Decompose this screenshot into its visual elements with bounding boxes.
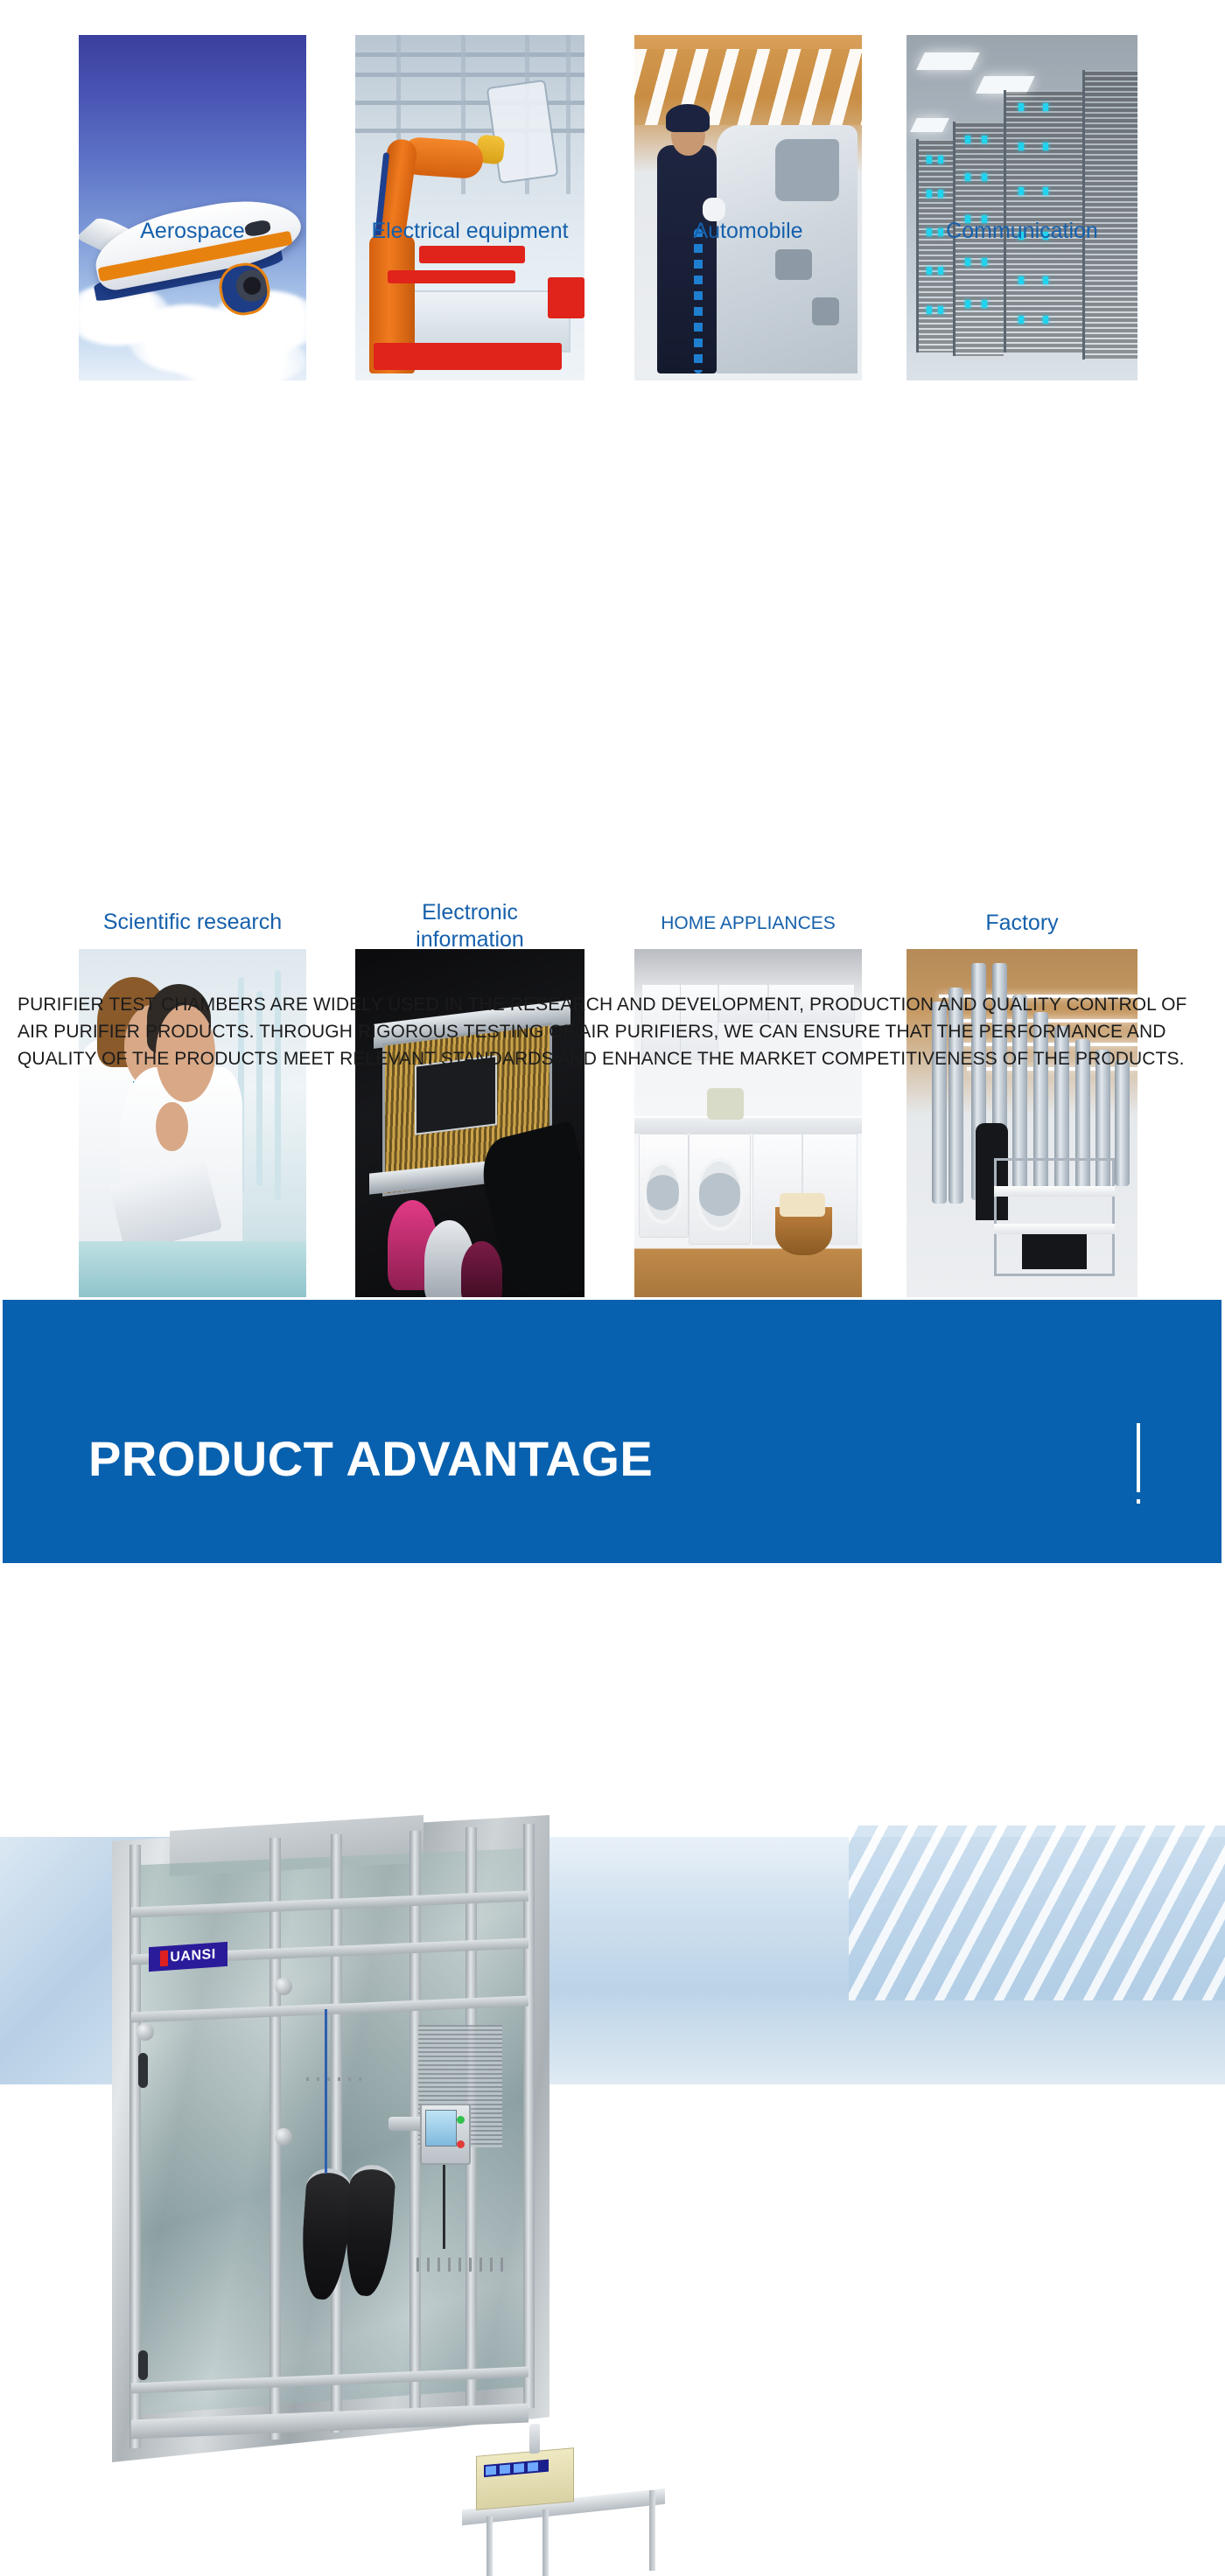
application-label-scientific-research: Scientific research <box>47 910 338 935</box>
product-advantage-banner: PRODUCT ADVANTAGE <box>3 1300 1221 1563</box>
purifier-test-chamber-photo: UANSI <box>112 1815 549 2462</box>
industrial-robot-arm-photo <box>355 35 584 380</box>
product-description-paragraph: PURIFIER TEST CHAMBERS ARE WIDELY USED I… <box>17 991 1209 1072</box>
application-tile-communication[interactable] <box>906 35 1137 380</box>
server-racks-datacenter-photo <box>906 35 1137 380</box>
table-leg <box>649 2490 655 2571</box>
application-tile-automobile[interactable] <box>634 35 862 380</box>
car-body-assembly-worker-photo <box>634 35 862 380</box>
control-panel-screen <box>425 2110 457 2147</box>
application-label-communication: Communication <box>889 219 1155 244</box>
banner-title: PRODUCT ADVANTAGE <box>88 1433 653 1485</box>
application-label-aerospace: Aerospace <box>79 219 306 244</box>
control-panel-arm <box>388 2117 423 2131</box>
hero-light-rays <box>849 1826 1225 2000</box>
measurement-instrument <box>476 2447 574 2510</box>
application-tile-electrical-equipment[interactable] <box>355 35 584 380</box>
control-panel[interactable] <box>420 2104 471 2165</box>
table-leg <box>486 2517 493 2576</box>
instrument-probe <box>529 2424 540 2454</box>
application-tile-aerospace[interactable] <box>79 35 306 380</box>
application-label-home-appliances: HOME APPLIANCES <box>617 911 879 936</box>
table-leg <box>542 2510 549 2576</box>
product-page: Aerospace <box>0 0 1225 2576</box>
hero-product-image: UANSI <box>0 1563 1225 2576</box>
application-row-1: Aerospace <box>0 0 1225 437</box>
application-label-electronic-information: Electronic information <box>348 899 591 953</box>
application-label-automobile: Automobile <box>634 219 862 244</box>
application-label-electrical-equipment: Electrical equipment <box>332 219 607 244</box>
vertical-bar-mark-icon <box>1137 1423 1140 1492</box>
instrument-display <box>484 2460 549 2477</box>
airplane-in-sky-photo <box>79 35 306 380</box>
status-indicator-green <box>457 2116 465 2124</box>
status-indicator-red <box>457 2140 465 2148</box>
application-label-factory: Factory <box>906 911 1137 936</box>
application-sections: Aerospace <box>0 0 1225 437</box>
brand-logo-text: UANSI <box>170 1947 215 1966</box>
